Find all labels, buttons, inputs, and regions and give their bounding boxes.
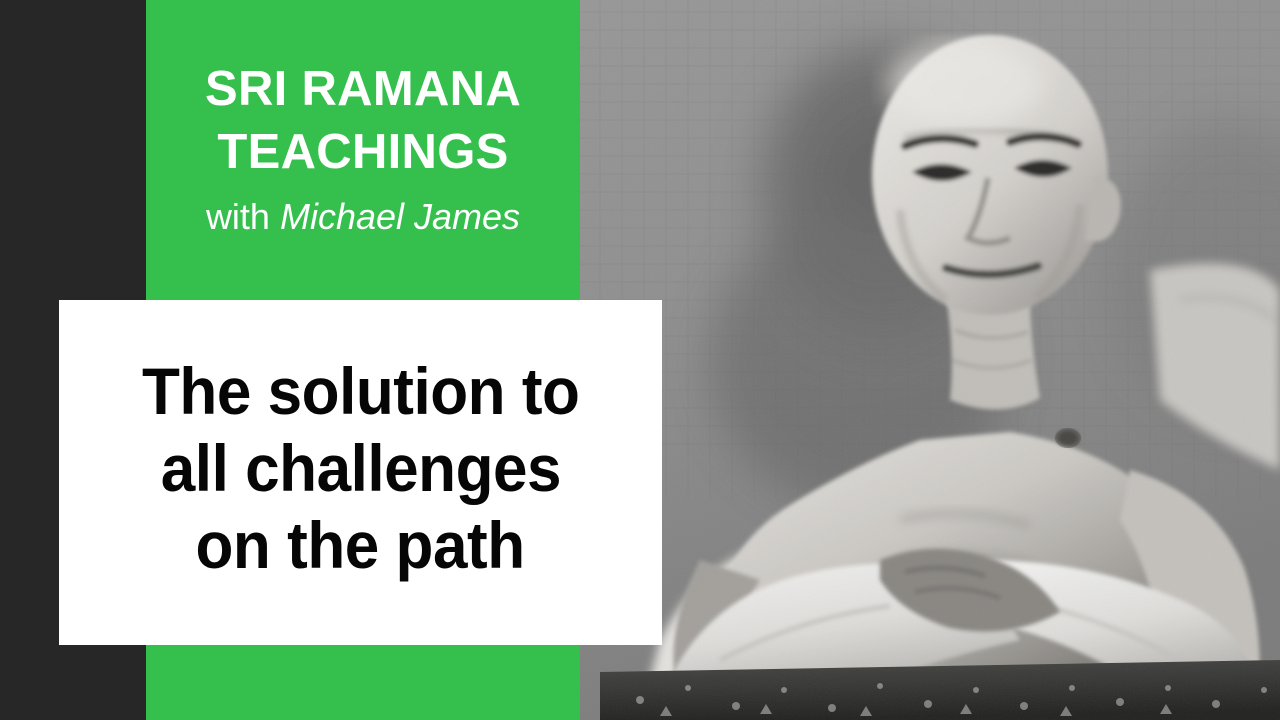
channel-name-line-1: SRI RAMANA <box>146 58 580 121</box>
video-title-card: The solution to all challenges on the pa… <box>59 300 662 645</box>
video-title-line-2: all challenges <box>160 430 560 507</box>
video-thumbnail: SRI RAMANA TEACHINGS with Michael James … <box>0 0 1280 720</box>
presenter-prefix: with <box>206 196 280 237</box>
presenter-subtitle: with Michael James <box>146 197 580 237</box>
presenter-name: Michael James <box>280 196 520 237</box>
channel-name-line-2: TEACHINGS <box>146 121 580 184</box>
video-title-line-1: The solution to <box>142 353 580 430</box>
channel-branding: SRI RAMANA TEACHINGS with Michael James <box>146 0 580 237</box>
video-title-line-3: on the path <box>196 507 525 584</box>
